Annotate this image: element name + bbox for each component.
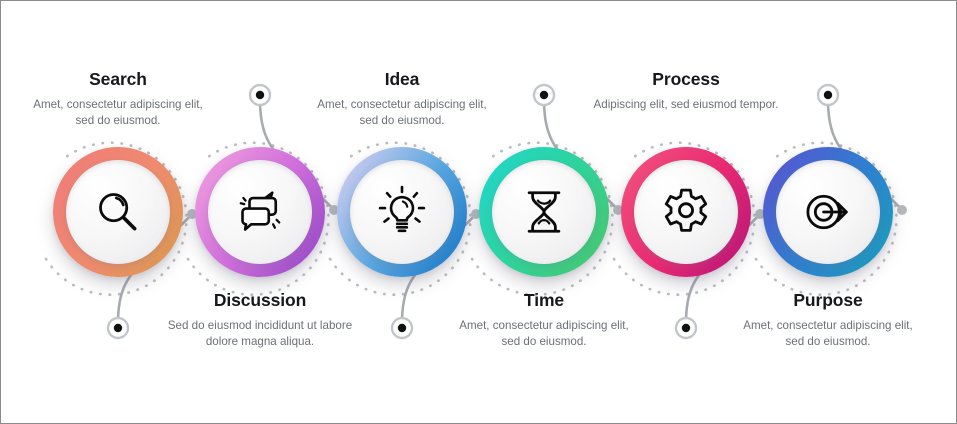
step-ring-inner-discussion: [208, 160, 312, 264]
step-ring-inner-time: [492, 160, 596, 264]
step-ring-inner-idea: [350, 160, 454, 264]
lightbulb-icon: [374, 184, 430, 240]
step-ring-inner-purpose: [776, 160, 880, 264]
step-marker-purpose[interactable]: [818, 85, 838, 105]
step-desc-idea: Amet, consectetur adipiscing elit, sed d…: [309, 97, 495, 130]
step-desc-purpose: Amet, consectetur adipiscing elit, sed d…: [735, 318, 921, 351]
step-label-time: Time Amet, consectetur adipiscing elit, …: [451, 290, 637, 351]
step-label-purpose: Purpose Amet, consectetur adipiscing eli…: [735, 290, 921, 351]
target-arrow-icon: [800, 184, 856, 240]
step-circle-idea[interactable]: [337, 147, 467, 277]
step-desc-discussion: Sed do eiusmod incididunt ut labore dolo…: [167, 318, 353, 351]
step-circle-search[interactable]: [53, 147, 183, 277]
junction-dot-6: [897, 205, 907, 215]
step-title-search: Search: [25, 69, 211, 90]
infographic-canvas: Search Amet, consectetur adipiscing elit…: [0, 0, 957, 424]
step-title-idea: Idea: [309, 69, 495, 90]
step-desc-search: Amet, consectetur adipiscing elit, sed d…: [25, 97, 211, 130]
step-title-discussion: Discussion: [167, 290, 353, 311]
step-title-purpose: Purpose: [735, 290, 921, 311]
step-label-discussion: Discussion Sed do eiusmod incididunt ut …: [167, 290, 353, 351]
step-marker-idea[interactable]: [392, 318, 412, 338]
step-label-idea: Idea Amet, consectetur adipiscing elit, …: [309, 69, 495, 130]
chat-bubbles-icon: [232, 184, 288, 240]
step-circle-purpose[interactable]: [763, 147, 893, 277]
step-circle-time[interactable]: [479, 147, 609, 277]
step-marker-process[interactable]: [676, 318, 696, 338]
gear-icon: [658, 184, 714, 240]
step-circle-process[interactable]: [621, 147, 751, 277]
step-marker-discussion[interactable]: [250, 85, 270, 105]
step-desc-time: Amet, consectetur adipiscing elit, sed d…: [451, 318, 637, 351]
magnifier-icon: [90, 184, 146, 240]
step-marker-search[interactable]: [108, 318, 128, 338]
hourglass-icon: [516, 184, 572, 240]
step-ring-inner-process: [634, 160, 738, 264]
step-label-process: Process Adipiscing elit, sed eiusmod tem…: [593, 69, 779, 113]
step-ring-inner-search: [66, 160, 170, 264]
step-desc-process: Adipiscing elit, sed eiusmod tempor.: [593, 97, 779, 113]
step-title-process: Process: [593, 69, 779, 90]
step-label-search: Search Amet, consectetur adipiscing elit…: [25, 69, 211, 130]
step-circle-discussion[interactable]: [195, 147, 325, 277]
step-title-time: Time: [451, 290, 637, 311]
step-marker-time[interactable]: [534, 85, 554, 105]
